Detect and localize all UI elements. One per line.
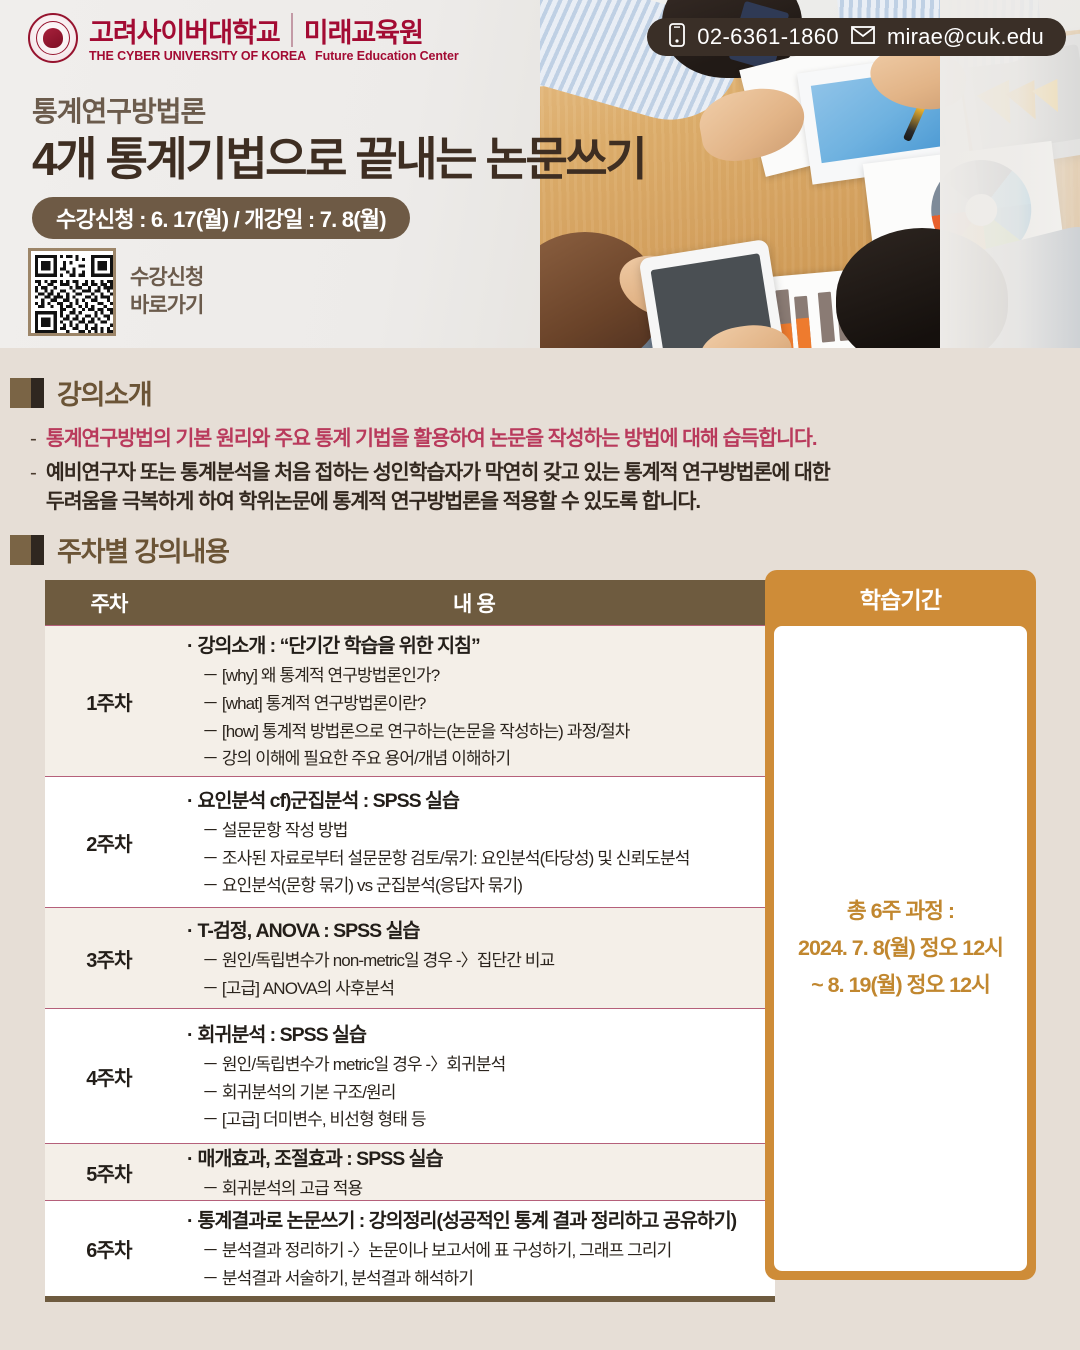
week-detail-item: － [how] 통계적 방법론으로 연구하는(논문을 작성하는) 과정/절차: [187, 718, 765, 746]
week-detail-item: － 강의 이해에 필요한 주요 용어/개념 이해하기: [187, 745, 765, 773]
table-row: 6주차 ·통계결과로 논문쓰기 : 강의정리(성공적인 통계 결과 정리하고 공…: [45, 1200, 775, 1296]
logo-divider: [291, 13, 293, 47]
week-topic-text: 매개효과, 조절효과 : SPSS 실습: [198, 1148, 443, 1170]
qr-code-icon[interactable]: [28, 248, 116, 336]
week-detail-item: － [why] 왜 통계적 연구방법론인가?: [187, 662, 765, 690]
university-crest-icon: [28, 13, 78, 63]
weekly-curriculum-table: 주차 내 용 1주차 ·강의소개 : “단기간 학습을 위한 지침” － [wh…: [45, 580, 775, 1302]
course-title: 4개 통계기법으로 끝내는 논문쓰기: [32, 123, 645, 189]
week-topic-text: 통계결과로 논문쓰기 : 강의정리(성공적인 통계 결과 정리하고 공유하기): [198, 1210, 737, 1232]
week-detail-item: － 설문문항 작성 방법: [187, 817, 765, 845]
study-period-text: 총 6주 과정 : 2024. 7. 8(월) 정오 12시 ~ 8. 19(월…: [798, 893, 1003, 1004]
intro-bullet: - 예비연구자 또는 통계분석을 처음 접하는 성인학습자가 막연히 갖고 있는…: [30, 458, 1060, 517]
week-detail-item: － 분석결과 정리하기 -〉논문이나 보고서에 표 구성하기, 그래프 그리기: [187, 1237, 765, 1265]
table-row: 1주차 ·강의소개 : “단기간 학습을 위한 지침” － [why] 왜 통계…: [45, 625, 775, 776]
week-topic-title: ·요인분석 cf)군집분석 : SPSS 실습: [187, 784, 765, 813]
tiger-emblem-icon: [43, 28, 63, 48]
bar: [796, 318, 812, 348]
study-period-box: 학습기간 총 6주 과정 : 2024. 7. 8(월) 정오 12시 ~ 8.…: [765, 570, 1036, 1280]
week-topic-text: 강의소개 : “단기간 학습을 위한 지침”: [198, 635, 480, 657]
phone-icon: [669, 23, 685, 52]
week-topic-title: ·회귀분석 : SPSS 실습: [187, 1018, 765, 1047]
week-content: ·회귀분석 : SPSS 실습 － 원인/독립변수가 metric일 경우 -〉…: [173, 1005, 775, 1147]
logo-university-name-en: THE CYBER UNIVERSITY OF KOREA: [89, 49, 306, 63]
logo-korean-row: 고려사이버대학교 미래교육원: [89, 13, 459, 47]
table-row: 3주차 ·T-검정, ANOVA : SPSS 실습 － 원인/독립변수가 no…: [45, 907, 775, 1008]
bullet-dot-icon: ·: [187, 1210, 193, 1232]
email-address[interactable]: mirae@cuk.edu: [887, 24, 1044, 50]
week-label: 2주차: [45, 828, 173, 857]
logo-unit-name-en: Future Education Center: [315, 49, 459, 63]
qr-label-line-2: 바로가기: [130, 292, 203, 320]
bullet-dash: -: [30, 458, 36, 517]
table-row: 4주차 ·회귀분석 : SPSS 실습 － 원인/독립변수가 metric일 경…: [45, 1008, 775, 1143]
logo-unit-name-ko: 미래교육원: [304, 20, 423, 47]
week-detail-item: － 원인/독립변수가 metric일 경우 -〉회귀분석: [187, 1051, 765, 1079]
qr-registration-block[interactable]: 수강신청 바로가기: [28, 248, 203, 336]
intro-bullet-line: 예비연구자 또는 통계분석을 처음 접하는 성인학습자가 막연히 갖고 있는 통…: [46, 461, 830, 484]
intro-bullet-text: 통계연구방법의 기본 원리와 주요 통계 기법을 활용하여 논문을 작성하는 방…: [46, 424, 817, 454]
intro-bullet-list: - 통계연구방법의 기본 원리와 주요 통계 기법을 활용하여 논문을 작성하는…: [30, 424, 1060, 521]
week-detail-item: － [what] 통계적 연구방법론이란?: [187, 690, 765, 718]
study-period-line-3: ~ 8. 19(월) 정오 12시: [798, 967, 1003, 1004]
section-title-intro: 강의소개: [57, 373, 152, 412]
week-topic-title: ·강의소개 : “단기간 학습을 위한 지침”: [187, 629, 765, 658]
table-row: 2주차 ·요인분석 cf)군집분석 : SPSS 실습 － 설문문항 작성 방법…: [45, 776, 775, 907]
study-period-body: 총 6주 과정 : 2024. 7. 8(월) 정오 12시 ~ 8. 19(월…: [774, 626, 1027, 1271]
poster-page: 고려사이버대학교 미래교육원 THE CYBER UNIVERSITY OF K…: [0, 0, 1080, 1350]
section-marker-icon: [10, 378, 44, 408]
envelope-icon: [851, 26, 875, 49]
week-topic-text: 회귀분석 : SPSS 실습: [198, 1024, 366, 1046]
week-label: 1주차: [45, 687, 173, 716]
section-header-weeks: 주차별 강의내용: [10, 530, 229, 569]
column-header-week: 주차: [45, 588, 173, 618]
week-topic-title: ·통계결과로 논문쓰기 : 강의정리(성공적인 통계 결과 정리하고 공유하기): [187, 1204, 765, 1233]
study-period-line-2: 2024. 7. 8(월) 정오 12시: [798, 930, 1003, 967]
study-period-title: 학습기간: [774, 570, 1027, 626]
intro-bullet: - 통계연구방법의 기본 원리와 주요 통계 기법을 활용하여 논문을 작성하는…: [30, 424, 1060, 454]
section-header-intro: 강의소개: [10, 373, 152, 412]
week-detail-item: － 회귀분석의 기본 구조/원리: [187, 1079, 765, 1107]
bullet-dot-icon: ·: [187, 1148, 193, 1170]
week-topic-title: ·T-검정, ANOVA : SPSS 실습: [187, 914, 765, 943]
bullet-dot-icon: ·: [187, 790, 193, 812]
intro-bullet-text-block: 예비연구자 또는 통계분석을 처음 접하는 성인학습자가 막연히 갖고 있는 통…: [46, 458, 830, 517]
week-detail-item: － 분석결과 서술하기, 분석결과 해석하기: [187, 1265, 765, 1293]
bullet-dot-icon: ·: [187, 920, 193, 942]
week-detail-item: － [고급] ANOVA의 사후분석: [187, 975, 765, 1003]
logo-text-block: 고려사이버대학교 미래교육원 THE CYBER UNIVERSITY OF K…: [89, 13, 459, 63]
week-content: ·통계결과로 논문쓰기 : 강의정리(성공적인 통계 결과 정리하고 공유하기)…: [173, 1191, 775, 1305]
week-detail-item: － 원인/독립변수가 non-metric일 경우 -〉집단간 비교: [187, 947, 765, 975]
intro-bullet-line: 두려움을 극복하게 하여 학위논문에 통계적 연구방법론을 적용할 수 있도록 …: [46, 490, 700, 513]
logo-english-row: THE CYBER UNIVERSITY OF KOREA Future Edu…: [89, 49, 459, 63]
week-topic-text: T-검정, ANOVA : SPSS 실습: [198, 920, 420, 942]
week-label: 5주차: [45, 1158, 173, 1187]
study-period-line-1: 총 6주 과정 :: [798, 893, 1003, 930]
section-title-weeks: 주차별 강의내용: [57, 530, 229, 569]
week-label: 4주차: [45, 1062, 173, 1091]
bullet-dash: -: [30, 424, 36, 454]
bullet-dot-icon: ·: [187, 1024, 193, 1046]
section-marker-icon: [10, 535, 44, 565]
week-detail-item: － 요인분석(문항 묶기) vs 군집분석(응답자 묶기): [187, 872, 765, 900]
week-content: ·요인분석 cf)군집분석 : SPSS 실습 － 설문문항 작성 방법 － 조…: [173, 771, 775, 913]
week-content: ·강의소개 : “단기간 학습을 위한 지침” － [why] 왜 통계적 연구…: [173, 616, 775, 785]
qr-label-line-1: 수강신청: [130, 264, 203, 292]
phone-number[interactable]: 02-6361-1860: [697, 24, 839, 50]
hero-banner: 고려사이버대학교 미래교육원 THE CYBER UNIVERSITY OF K…: [0, 0, 1080, 348]
logo-university-name-ko: 고려사이버대학교: [89, 20, 280, 47]
week-topic-text: 요인분석 cf)군집분석 : SPSS 실습: [198, 790, 459, 812]
qr-label: 수강신청 바로가기: [130, 264, 203, 319]
enrollment-date-badge: 수강신청 : 6. 17(월) / 개강일 : 7. 8(월): [32, 197, 410, 239]
week-detail-item: － 조사된 자료로부터 설문문항 검토/묶기: 요인분석(타당성) 및 신뢰도분…: [187, 845, 765, 873]
week-content: ·T-검정, ANOVA : SPSS 실습 － 원인/독립변수가 non-me…: [173, 901, 775, 1015]
university-logo: 고려사이버대학교 미래교육원 THE CYBER UNIVERSITY OF K…: [28, 13, 459, 63]
week-topic-title: ·매개효과, 조절효과 : SPSS 실습: [187, 1142, 765, 1171]
contact-bar: 02-6361-1860 mirae@cuk.edu: [647, 18, 1066, 56]
week-label: 3주차: [45, 944, 173, 973]
bar: [818, 292, 835, 343]
column-header-content: 내 용: [173, 588, 775, 618]
bullet-dot-icon: ·: [187, 635, 193, 657]
week-label: 6주차: [45, 1234, 173, 1263]
